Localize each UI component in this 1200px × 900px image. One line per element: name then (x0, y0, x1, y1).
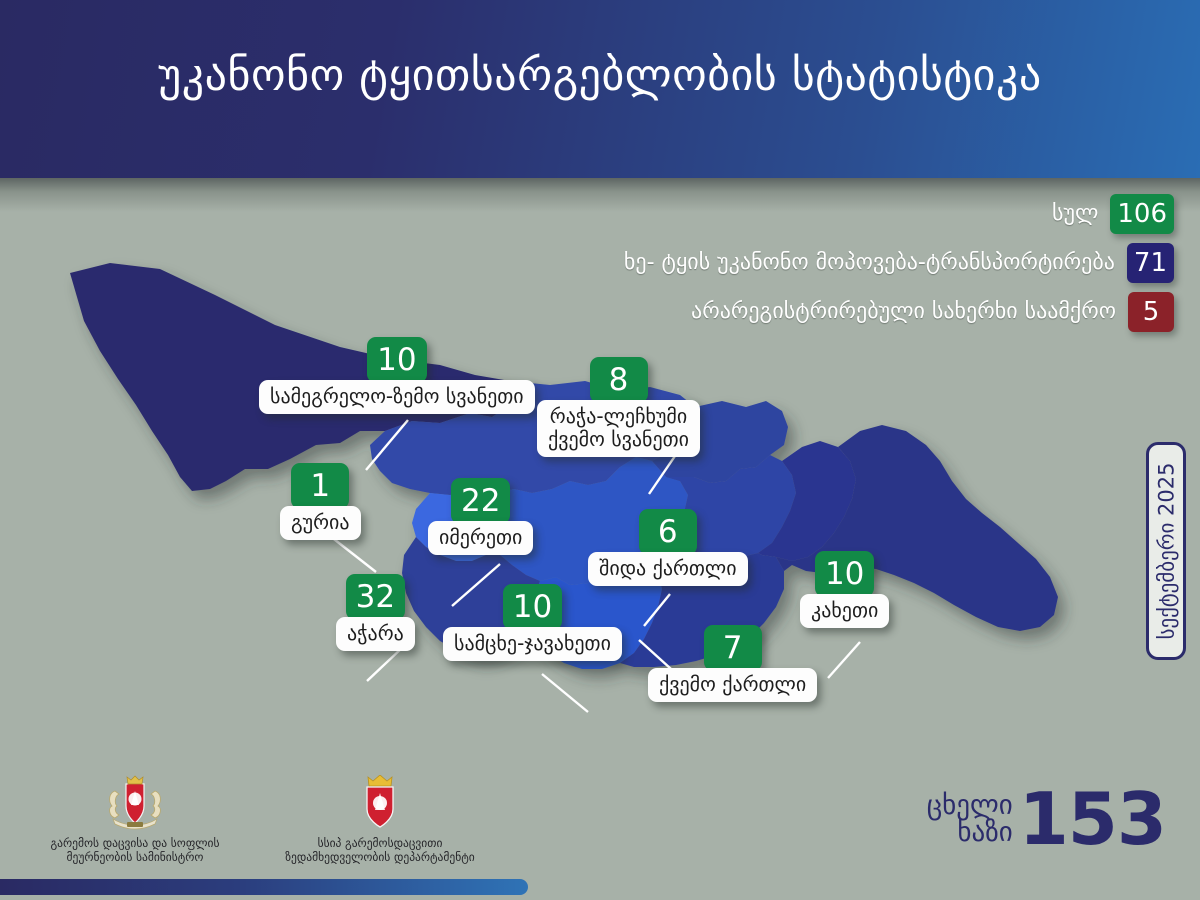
leader-line-samtskhe (540, 672, 592, 716)
region-value-samtskhe-javakheti: 10 (503, 584, 562, 630)
region-label-imereti: იმერეთი (428, 521, 533, 555)
legend-row-illegal-logging-transport: ხე- ტყის უკანონო მოპოვება-ტრანსპორტირება… (624, 243, 1174, 283)
logo-department: სსიპ გარემოსდაცვითი ზედამხედველობის დეპა… (255, 775, 505, 864)
region-value-racha-lechkhumi-kvemo-svaneti: 8 (590, 357, 648, 403)
region-marker-adjara[interactable]: 32 აჭარა (336, 574, 415, 651)
leader-line-guria (328, 534, 380, 576)
legend-row-unregistered-sawmill: არარეგისტრირებული სახერხი საამქრო 5 (624, 292, 1174, 332)
logo-caption-ministry: გარემოს დაცვისა და სოფლის მეურნეობის სამ… (30, 836, 240, 864)
hotline-block: ცხელი ხაზი 153 (927, 786, 1166, 852)
leader-line-samegrelo (362, 418, 412, 474)
region-value-kakheti: 10 (815, 551, 874, 597)
bottom-accent-strip (0, 879, 528, 895)
region-label-guria: გურია (280, 506, 361, 540)
ministry-coat-of-arms-icon (105, 775, 165, 831)
hotline-line1: ცხელი (927, 792, 1013, 819)
region-value-shida-kartli: 6 (639, 509, 697, 555)
region-marker-imereti[interactable]: 22 იმერეთი (428, 478, 533, 555)
region-marker-shida-kartli[interactable]: 6 შიდა ქართლი (588, 509, 748, 586)
region-marker-samtskhe-javakheti[interactable]: 10 სამცხე-ჯავახეთი (443, 584, 622, 661)
region-marker-kakheti[interactable]: 10 კახეთი (800, 551, 889, 628)
logo-caption-department: სსიპ გარემოსდაცვითი ზედამხედველობის დეპა… (255, 836, 505, 864)
region-marker-guria[interactable]: 1 გურია (280, 463, 361, 540)
infographic-root: უკანონო ტყითსარგებლობის სტატისტიკა სულ 1… (0, 0, 1200, 900)
region-marker-kvemo-kartli[interactable]: 7 ქვემო ქართლი (648, 625, 817, 702)
hotline-number: 153 (1019, 786, 1166, 852)
date-badge-text: სექტემბერი 2025 (1154, 462, 1178, 639)
hotline-words: ცხელი ხაზი (927, 792, 1013, 846)
department-coat-of-arms-icon (354, 775, 406, 831)
region-value-guria: 1 (291, 463, 349, 509)
region-label-shida-kartli: შიდა ქართლი (588, 552, 748, 586)
footer-logos: გარემოს დაცვისა და სოფლის მეურნეობის სამ… (0, 775, 560, 875)
date-badge: სექტემბერი 2025 (1146, 442, 1186, 660)
page-title: უკანონო ტყითსარგებლობის სტატისტიკა (0, 46, 1200, 106)
region-label-kvemo-kartli: ქვემო ქართლი (648, 668, 817, 702)
logo-ministry: გარემოს დაცვისა და სოფლის მეურნეობის სამ… (30, 775, 240, 864)
hotline-line2: ხაზი (927, 819, 1013, 846)
legend-value-total: 106 (1110, 194, 1174, 234)
region-value-adjara: 32 (346, 574, 405, 620)
legend: სულ 106 ხე- ტყის უკანონო მოპოვება-ტრანსპ… (624, 194, 1174, 341)
region-label-adjara: აჭარა (336, 617, 415, 651)
legend-label-total: სულ (1052, 202, 1098, 226)
legend-label-unregistered-sawmill: არარეგისტრირებული სახერხი საამქრო (691, 300, 1116, 324)
leader-line-racha (645, 454, 681, 498)
region-marker-samegrelo-zemo-svaneti[interactable]: 10 სამეგრელო-ზემო სვანეთი (259, 337, 535, 414)
region-value-kvemo-kartli: 7 (704, 625, 762, 671)
legend-row-total: სულ 106 (624, 194, 1174, 234)
header-band: უკანონო ტყითსარგებლობის სტატისტიკა (0, 0, 1200, 178)
region-label-samtskhe-javakheti: სამცხე-ჯავახეთი (443, 627, 622, 661)
legend-label-illegal-logging-transport: ხე- ტყის უკანონო მოპოვება-ტრანსპორტირება (624, 251, 1115, 275)
region-marker-racha-lechkhumi-kvemo-svaneti[interactable]: 8 რაჭა-ლეჩხუმი ქვემო სვანეთი (537, 357, 700, 457)
leader-line-adjara (363, 645, 407, 685)
region-label-samegrelo-zemo-svaneti: სამეგრელო-ზემო სვანეთი (259, 380, 535, 414)
region-label-kakheti: კახეთი (800, 594, 889, 628)
legend-value-unregistered-sawmill: 5 (1128, 292, 1174, 332)
leader-line-kakheti (824, 640, 864, 682)
region-value-samegrelo-zemo-svaneti: 10 (367, 337, 426, 383)
legend-value-illegal-logging-transport: 71 (1127, 243, 1174, 283)
region-label-racha-lechkhumi-kvemo-svaneti: რაჭა-ლეჩხუმი ქვემო სვანეთი (537, 400, 700, 457)
region-value-imereti: 22 (451, 478, 510, 524)
